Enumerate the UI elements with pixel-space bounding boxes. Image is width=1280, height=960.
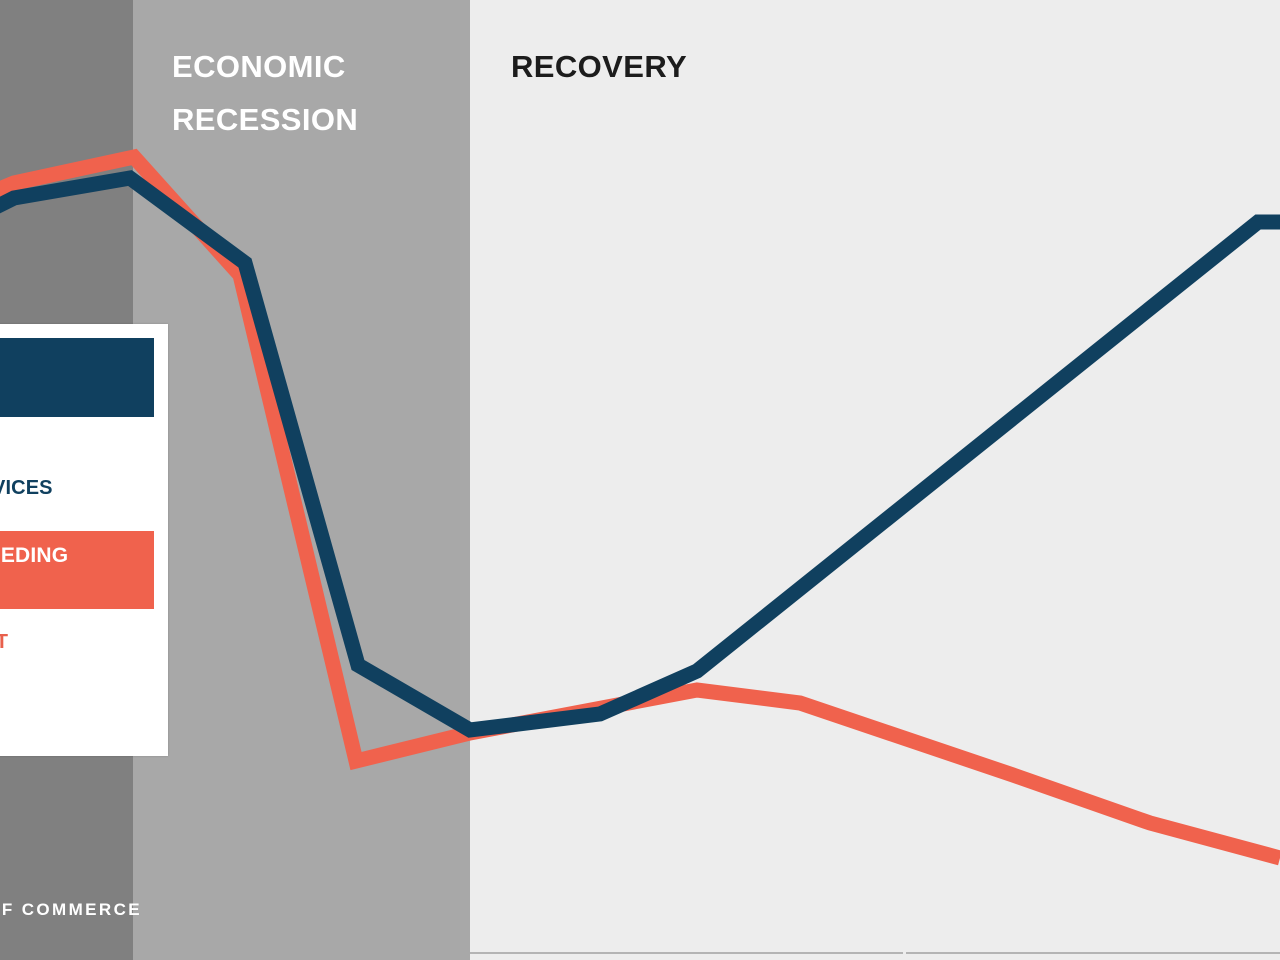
legend-items-red: MENT Y ICES	[0, 609, 168, 738]
legend-item: GY	[0, 431, 158, 469]
x-axis-baseline	[470, 952, 1280, 954]
chart-canvas: D S ECONOMIC RECESSION RECOVERY G S GY S…	[0, 0, 1280, 960]
chart-legend: G S GY SERVICES S NEEDING E MENT Y ICES	[0, 324, 168, 756]
legend-header-red: S NEEDING E	[0, 531, 154, 610]
line-chart-plot	[0, 0, 1280, 960]
legend-group-blue: G S GY SERVICES	[0, 338, 168, 508]
x-axis-tick	[903, 950, 906, 956]
series-line-red	[0, 157, 1280, 858]
legend-header-blue: G S	[0, 338, 154, 417]
legend-items-blue: GY SERVICES	[0, 417, 168, 508]
legend-item: MENT	[0, 623, 158, 661]
legend-item: SERVICES	[0, 469, 158, 507]
source-attribution: BER OF COMMERCE	[0, 900, 142, 920]
series-line-blue	[0, 178, 1280, 730]
legend-group-red: S NEEDING E MENT Y ICES	[0, 531, 168, 739]
legend-item: ICES	[0, 700, 158, 738]
legend-item: Y	[0, 662, 158, 700]
